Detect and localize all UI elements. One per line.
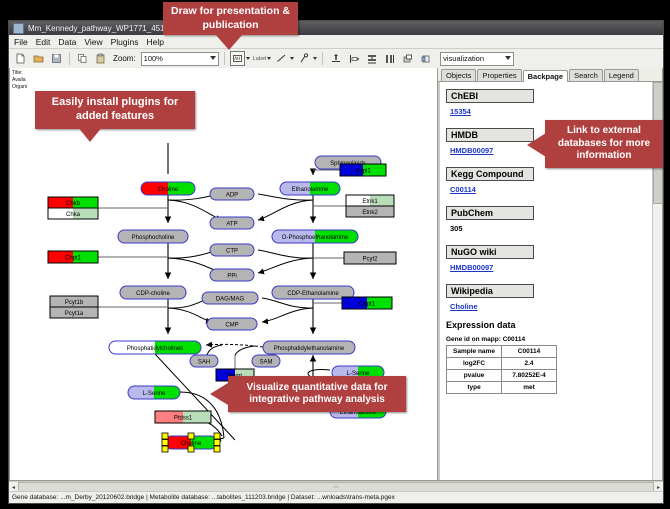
metabolite-node[interactable]: Ethanolamine bbox=[280, 182, 340, 195]
cell-value: C00114 bbox=[502, 346, 557, 358]
pathway-diagram[interactable]: SphingolipidsCholineEthanolamineADPATPPh… bbox=[10, 68, 437, 481]
cell-value: met bbox=[502, 382, 557, 394]
section-heading-chebi: ChEBI bbox=[446, 89, 534, 103]
pubchem-value: 305 bbox=[450, 224, 650, 233]
chevron-down-icon bbox=[267, 57, 271, 60]
copy-icon[interactable] bbox=[75, 51, 90, 66]
metabolite-node[interactable]: O-Phosphoethanolamine bbox=[272, 230, 358, 243]
node-label: Phosphocholine bbox=[132, 235, 175, 241]
label-dropdown[interactable]: Label bbox=[253, 56, 271, 62]
new-document-icon[interactable] bbox=[13, 51, 28, 66]
gene-node[interactable]: Sgpl1 bbox=[340, 164, 386, 176]
datanode-icon[interactable]: AH bbox=[230, 51, 245, 66]
selection-handle[interactable] bbox=[214, 446, 220, 452]
chevron-down-icon bbox=[210, 56, 216, 60]
chevron-down-icon bbox=[290, 57, 294, 60]
node-label: CDP-choline bbox=[136, 291, 170, 297]
node-label: Choline bbox=[158, 187, 179, 193]
section-heading-hmdb: HMDB bbox=[446, 128, 534, 142]
node-label: Etnk1 bbox=[362, 199, 378, 205]
selection-handle[interactable] bbox=[214, 433, 220, 439]
status-bar: Gene database: ...m_Derby_20120602.bridg… bbox=[9, 491, 663, 503]
tab-backpage[interactable]: Backpage bbox=[523, 70, 568, 82]
gene-node[interactable]: Etnk1 bbox=[346, 195, 394, 206]
selection-handle[interactable] bbox=[188, 446, 194, 452]
side-panel-tabs: Objects Properties Backpage Search Legen… bbox=[438, 68, 662, 82]
gene-node[interactable]: Etnk2 bbox=[346, 206, 394, 217]
callout-plugins: Easily install plugins for added feature… bbox=[35, 91, 195, 129]
section-heading-nugo: NuGO wiki bbox=[446, 245, 534, 259]
scroll-left-icon[interactable]: ◂ bbox=[9, 484, 18, 491]
node-label: O-Phosphoethanolamine bbox=[282, 235, 349, 241]
line-icon[interactable] bbox=[274, 51, 289, 66]
node-label: CMP bbox=[225, 322, 238, 328]
selection-handle[interactable] bbox=[162, 433, 168, 439]
gene-node[interactable]: Chpt1 bbox=[48, 251, 98, 263]
cell-label: log2FC bbox=[447, 358, 502, 370]
menu-item-data[interactable]: Data bbox=[58, 37, 76, 47]
expression-data-title: Expression data bbox=[446, 320, 650, 330]
node-label: Phosphatidylcholines bbox=[127, 346, 183, 352]
metabolite-node[interactable]: L-Serine bbox=[128, 386, 180, 399]
node-label: Etnk2 bbox=[362, 210, 378, 216]
cell-label: Sample name bbox=[447, 346, 502, 358]
cell-label: pvalue bbox=[447, 370, 502, 382]
metabolite-node[interactable]: SAM bbox=[252, 355, 280, 367]
wikipedia-link[interactable]: Choline bbox=[450, 302, 650, 311]
node-label: Sgpl1 bbox=[355, 168, 371, 174]
node-label: L-Serine bbox=[143, 391, 166, 397]
section-heading-wikipedia: Wikipedia bbox=[446, 284, 534, 298]
metabolite-node[interactable]: CMP bbox=[207, 318, 257, 330]
open-folder-icon[interactable] bbox=[31, 51, 46, 66]
zoom-label: Zoom: bbox=[113, 54, 136, 63]
section-heading-kegg: Kegg Compound bbox=[446, 167, 534, 181]
node-label: ATP bbox=[226, 221, 237, 227]
paste-icon[interactable] bbox=[93, 51, 108, 66]
table-row: log2FC 2.4 bbox=[447, 358, 557, 370]
menu-item-plugins[interactable]: Plugins bbox=[111, 37, 139, 47]
distribute-icon[interactable] bbox=[382, 51, 397, 66]
chevron-down-icon bbox=[246, 57, 250, 60]
app-icon bbox=[13, 23, 24, 34]
node-label: Pcyt2 bbox=[362, 256, 378, 262]
align-top-icon[interactable] bbox=[328, 51, 343, 66]
callout-link-text: Link to external databases for more info… bbox=[545, 125, 663, 163]
callout-draw: Draw for presentation & publication bbox=[163, 2, 298, 35]
menu-item-view[interactable]: View bbox=[84, 37, 102, 47]
gene-node[interactable]: Pcyt1b bbox=[50, 296, 98, 307]
visualization-combo[interactable]: visualization bbox=[440, 52, 514, 66]
expression-table: Sample name C00114 log2FC 2.4 pvalue 7.8… bbox=[446, 345, 557, 394]
menu-item-file[interactable]: File bbox=[14, 37, 28, 47]
datanode-dropdown[interactable]: AH bbox=[230, 51, 250, 66]
callout-plugins-arrow bbox=[77, 126, 103, 142]
callout-plugins-text: Easily install plugins for added feature… bbox=[35, 96, 195, 124]
menu-item-help[interactable]: Help bbox=[147, 37, 164, 47]
metabolite-node[interactable]: CTP bbox=[210, 244, 254, 256]
label-button[interactable]: Label bbox=[253, 56, 266, 62]
node-label: Ptdss1 bbox=[174, 415, 193, 421]
gene-node[interactable]: Ptdss1 bbox=[155, 411, 211, 423]
toolbar: Zoom: 100% AH Label bbox=[9, 49, 663, 69]
metabolite-node[interactable]: PPi bbox=[210, 269, 254, 281]
tab-properties[interactable]: Properties bbox=[477, 69, 521, 81]
node-label: Chka bbox=[66, 212, 81, 218]
metabolite-node[interactable]: ADP bbox=[210, 188, 254, 200]
callout-link-arrow bbox=[527, 133, 546, 157]
toolbar-separator bbox=[69, 52, 70, 65]
tab-legend[interactable]: Legend bbox=[604, 69, 639, 81]
node-label: Cept1 bbox=[359, 301, 376, 307]
kegg-link[interactable]: C00114 bbox=[450, 185, 650, 194]
section-heading-pubchem: PubChem bbox=[446, 206, 534, 220]
metabolite-node[interactable]: Choline bbox=[141, 182, 195, 195]
connector-dropdown[interactable] bbox=[297, 51, 317, 66]
callout-visualize: Visualize quantitative data for integrat… bbox=[228, 376, 406, 412]
metabolite-node[interactable]: ATP bbox=[210, 217, 254, 229]
send-to-back-icon[interactable] bbox=[400, 51, 415, 66]
gene-node[interactable]: Chka bbox=[48, 208, 98, 219]
connector-icon[interactable] bbox=[297, 51, 312, 66]
metabolite-node[interactable]: CDP-choline bbox=[120, 286, 186, 299]
gene-node[interactable]: Pcyt1a bbox=[50, 307, 98, 318]
status-bar-text: Gene database: ...m_Derby_20120602.bridg… bbox=[12, 494, 395, 501]
tab-search[interactable]: Search bbox=[569, 69, 603, 81]
gene-node[interactable]: Chkb bbox=[48, 197, 98, 208]
table-row: Sample name C00114 bbox=[447, 346, 557, 358]
line-dropdown[interactable] bbox=[274, 51, 294, 66]
menu-item-edit[interactable]: Edit bbox=[36, 37, 51, 47]
node-label: CDP-Ethanolamine bbox=[287, 291, 339, 297]
node-label: CTP bbox=[226, 248, 238, 254]
cell-value: 7.80252E-4 bbox=[502, 370, 557, 382]
application-window: Mm_Kennedy_pathway_WP1771_45176.gpml Fil… bbox=[8, 20, 664, 504]
zoom-combo[interactable]: 100% bbox=[141, 52, 219, 66]
metabolite-node[interactable]: Phosphatidylcholines bbox=[109, 341, 201, 354]
selection-handle[interactable] bbox=[214, 440, 220, 446]
chebi-link[interactable]: 15354 bbox=[450, 107, 650, 116]
table-row: pvalue 7.80252E-4 bbox=[447, 370, 557, 382]
callout-visualize-text: Visualize quantitative data for integrat… bbox=[228, 382, 406, 407]
node-label: Chkb bbox=[66, 201, 81, 207]
selection-handle[interactable] bbox=[188, 433, 194, 439]
node-label: SAH bbox=[198, 359, 210, 365]
svg-text:AH: AH bbox=[234, 56, 240, 62]
tab-objects[interactable]: Objects bbox=[441, 69, 476, 81]
toolbar-separator-2 bbox=[224, 52, 225, 65]
selection-handle[interactable] bbox=[162, 446, 168, 452]
menu-bar: File Edit Data View Plugins Help bbox=[9, 35, 663, 49]
callout-visualize-arrow bbox=[210, 383, 228, 405]
metabolite-node[interactable]: SAH bbox=[190, 355, 218, 367]
screenshot-root: Mm_Kennedy_pathway_WP1771_45176.gpml Fil… bbox=[0, 0, 670, 509]
gene-id-label: Gene id on mapp: C00114 bbox=[446, 336, 650, 343]
align-left-icon[interactable] bbox=[346, 51, 361, 66]
node-label: DAG/MAG bbox=[216, 296, 245, 302]
stack-vertical-icon[interactable] bbox=[364, 51, 379, 66]
node-label: Ethanolamine bbox=[292, 187, 329, 193]
node-label: PPi bbox=[227, 273, 236, 279]
nugo-link[interactable]: HMDB00097 bbox=[450, 263, 650, 272]
toolbar-separator-3 bbox=[322, 52, 323, 65]
callout-draw-arrow bbox=[215, 34, 243, 50]
node-label: Phosphatidylethanolamine bbox=[274, 346, 345, 352]
node-label: ADP bbox=[226, 192, 238, 198]
callout-link: Link to external databases for more info… bbox=[545, 120, 663, 168]
node-label: Pcyt1b bbox=[65, 300, 84, 306]
table-row: type met bbox=[447, 382, 557, 394]
pathway-canvas[interactable]: Title: Availa Organi bbox=[9, 68, 438, 481]
chevron-down-icon bbox=[313, 57, 317, 60]
metabolite-node[interactable]: DAG/MAG bbox=[202, 292, 258, 304]
gene-node[interactable]: Cept1 bbox=[342, 297, 392, 309]
metabolite-node[interactable]: Phosphocholine bbox=[118, 230, 188, 243]
save-disk-icon[interactable] bbox=[49, 51, 64, 66]
metabolite-node[interactable]: Phosphatidylethanolamine bbox=[263, 341, 355, 354]
zoom-value: 100% bbox=[144, 54, 163, 63]
cell-value: 2.4 bbox=[502, 358, 557, 370]
title-bar: Mm_Kennedy_pathway_WP1771_45176.gpml bbox=[9, 21, 663, 35]
bring-to-front-icon[interactable] bbox=[418, 51, 433, 66]
gene-node[interactable]: Pcyt2 bbox=[344, 252, 396, 264]
metabolite-node[interactable]: Choline bbox=[162, 433, 220, 452]
scroll-right-icon[interactable]: ▸ bbox=[654, 484, 663, 491]
node-label: SAM bbox=[259, 359, 272, 365]
node-label: Chpt1 bbox=[65, 255, 82, 261]
selection-handle[interactable] bbox=[162, 440, 168, 446]
node-label: Pcyt1a bbox=[65, 311, 84, 317]
visualization-value: visualization bbox=[443, 54, 484, 63]
callout-draw-text: Draw for presentation & publication bbox=[163, 5, 298, 31]
cell-label: type bbox=[447, 382, 502, 394]
chevron-down-icon bbox=[505, 56, 511, 60]
